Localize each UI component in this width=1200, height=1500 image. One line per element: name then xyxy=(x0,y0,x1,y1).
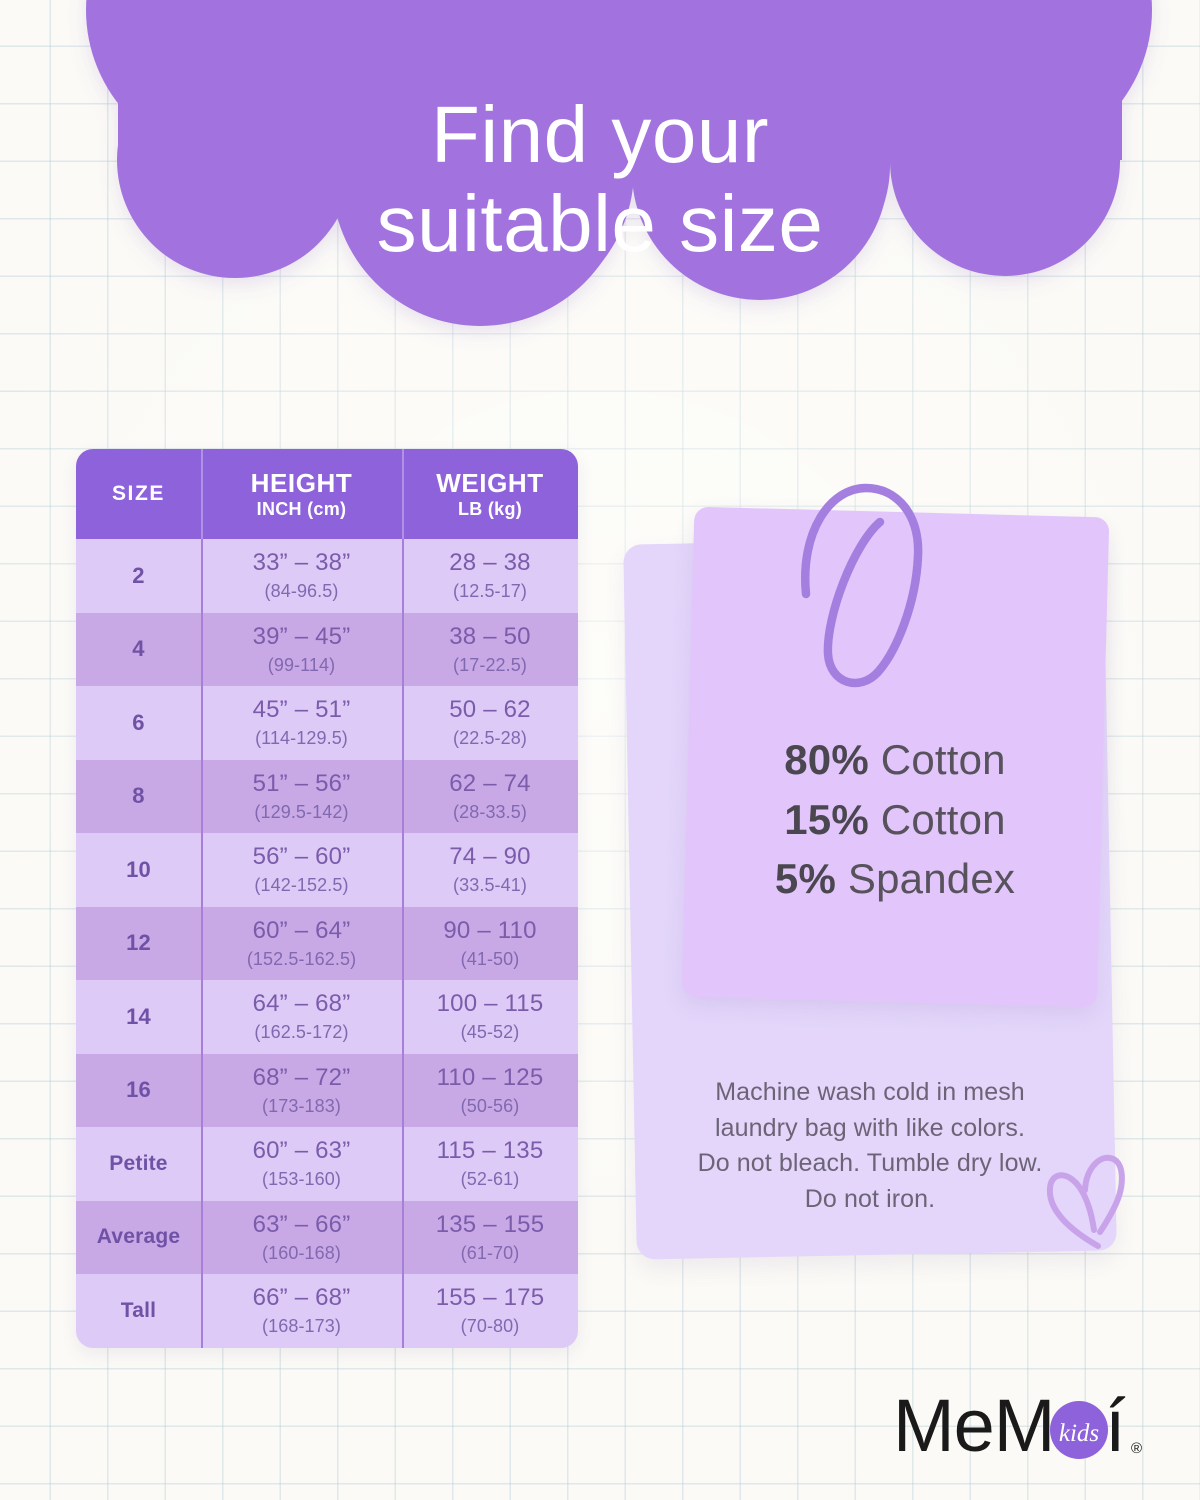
weight-lb: 90 – 110 xyxy=(443,919,536,943)
height-inches: 60” – 64” xyxy=(253,919,351,943)
memoi-kids-logo: MeM kids í ® xyxy=(893,1389,1143,1479)
weight-kg: (41-50) xyxy=(461,950,520,968)
height-inches: 33” – 38” xyxy=(253,551,351,575)
cell-size: 8 xyxy=(76,760,201,834)
weight-kg: (50-56) xyxy=(461,1097,520,1115)
weight-kg: (28-33.5) xyxy=(453,803,527,821)
size-value: 4 xyxy=(132,636,144,662)
fabric-composition-list: 80% Cotton15% Cotton5% Spandex xyxy=(660,730,1130,909)
cell-weight: 38 – 50(17-22.5) xyxy=(402,613,578,687)
column-header-height-unit: INCH (cm) xyxy=(257,500,347,518)
column-divider-2 xyxy=(402,613,404,687)
cell-weight: 62 – 74(28-33.5) xyxy=(402,760,578,834)
cell-weight: 135 – 155(61-70) xyxy=(402,1201,578,1275)
height-cm: (99-114) xyxy=(268,656,336,674)
size-value: 12 xyxy=(126,930,151,956)
heart-icon xyxy=(1040,1150,1135,1255)
cell-height: 56” – 60”(142-152.5) xyxy=(201,833,402,907)
cell-height: 33” – 38”(84-96.5) xyxy=(201,539,402,613)
cell-size: 12 xyxy=(76,907,201,981)
cell-height: 45” – 51”(114-129.5) xyxy=(201,686,402,760)
cell-weight: 115 – 135(52-61) xyxy=(402,1127,578,1201)
column-divider-2 xyxy=(402,1127,404,1201)
cell-height: 60” – 64”(152.5-162.5) xyxy=(201,907,402,981)
cell-size: 4 xyxy=(76,613,201,687)
height-inches: 51” – 56” xyxy=(253,772,351,796)
column-divider-2 xyxy=(402,980,404,1054)
size-value: 2 xyxy=(132,563,144,589)
height-cm: (173-183) xyxy=(262,1097,341,1115)
weight-kg: (17-22.5) xyxy=(453,656,527,674)
height-inches: 63” – 66” xyxy=(253,1213,351,1237)
weight-kg: (45-52) xyxy=(461,1023,520,1041)
column-divider-2 xyxy=(402,1274,404,1348)
cell-height: 60” – 63”(153-160) xyxy=(201,1127,402,1201)
height-cm: (152.5-162.5) xyxy=(247,950,356,968)
column-divider-2 xyxy=(402,539,404,613)
table-row: 233” – 38”(84-96.5)28 – 38(12.5-17) xyxy=(76,539,578,613)
table-row: 1464” – 68”(162.5-172)100 – 115(45-52) xyxy=(76,980,578,1054)
column-header-weight: WEIGHT LB (kg) xyxy=(402,449,578,539)
height-inches: 39” – 45” xyxy=(253,625,351,649)
cell-height: 68” – 72”(173-183) xyxy=(201,1054,402,1128)
size-value: Tall xyxy=(121,1299,156,1323)
weight-lb: 110 – 125 xyxy=(437,1066,544,1090)
table-row: 1668” – 72”(173-183)110 – 125(50-56) xyxy=(76,1054,578,1128)
table-row: Petite60” – 63”(153-160)115 – 135(52-61) xyxy=(76,1127,578,1201)
height-inches: 66” – 68” xyxy=(253,1286,351,1310)
cell-size: 10 xyxy=(76,833,201,907)
column-divider-2 xyxy=(402,449,404,539)
fabric-line: 15% Cotton xyxy=(660,790,1130,850)
weight-lb: 62 – 74 xyxy=(449,772,530,796)
table-row: Average63” – 66”(160-168)135 – 155(61-70… xyxy=(76,1201,578,1275)
logo-tail: í xyxy=(1105,1389,1126,1467)
cell-size: Average xyxy=(76,1201,201,1275)
weight-kg: (61-70) xyxy=(461,1244,520,1262)
column-divider-1 xyxy=(201,613,203,687)
height-cm: (168-173) xyxy=(262,1317,341,1335)
table-row: 645” – 51”(114-129.5)50 – 62(22.5-28) xyxy=(76,686,578,760)
column-divider-2 xyxy=(402,1054,404,1128)
size-value: Petite xyxy=(109,1152,167,1176)
column-divider-1 xyxy=(201,833,203,907)
cell-weight: 155 – 175(70-80) xyxy=(402,1274,578,1348)
weight-kg: (12.5-17) xyxy=(453,582,527,600)
fabric-line: 80% Cotton xyxy=(660,730,1130,790)
fabric-line: 5% Spandex xyxy=(660,849,1130,909)
weight-lb: 100 – 115 xyxy=(437,992,544,1016)
page-title: Find your suitable size xyxy=(0,90,1200,269)
cell-size: 6 xyxy=(76,686,201,760)
height-inches: 56” – 60” xyxy=(253,845,351,869)
column-divider-2 xyxy=(402,686,404,760)
height-inches: 45” – 51” xyxy=(253,698,351,722)
column-divider-1 xyxy=(201,449,203,539)
logo-wordmark: MeM xyxy=(893,1389,1054,1467)
table-row: 1056” – 60”(142-152.5)74 – 90(33.5-41) xyxy=(76,833,578,907)
size-chart-table: SIZE HEIGHT INCH (cm) WEIGHT LB (kg) 233… xyxy=(76,449,578,1348)
size-value: 16 xyxy=(126,1077,151,1103)
cell-weight: 100 – 115(45-52) xyxy=(402,980,578,1054)
cell-height: 64” – 68”(162.5-172) xyxy=(201,980,402,1054)
weight-kg: (70-80) xyxy=(461,1317,520,1335)
cell-weight: 50 – 62(22.5-28) xyxy=(402,686,578,760)
weight-kg: (52-61) xyxy=(461,1170,520,1188)
column-divider-1 xyxy=(201,1274,203,1348)
height-cm: (162.5-172) xyxy=(254,1023,348,1041)
cell-height: 66” – 68”(168-173) xyxy=(201,1274,402,1348)
logo-registered-mark: ® xyxy=(1131,1440,1142,1457)
cell-weight: 90 – 110(41-50) xyxy=(402,907,578,981)
fabric-percent: 15% xyxy=(784,796,869,843)
cell-weight: 74 – 90(33.5-41) xyxy=(402,833,578,907)
column-divider-1 xyxy=(201,539,203,613)
height-cm: (114-129.5) xyxy=(255,729,348,747)
cell-size: Tall xyxy=(76,1274,201,1348)
column-header-size-label: SIZE xyxy=(112,482,165,506)
column-divider-1 xyxy=(201,907,203,981)
height-inches: 64” – 68” xyxy=(253,992,351,1016)
column-divider-1 xyxy=(201,980,203,1054)
height-cm: (142-152.5) xyxy=(254,876,348,894)
weight-lb: 50 – 62 xyxy=(449,698,530,722)
cell-size: 14 xyxy=(76,980,201,1054)
fabric-material: Cotton xyxy=(881,796,1006,843)
column-divider-1 xyxy=(201,1127,203,1201)
table-body: 233” – 38”(84-96.5)28 – 38(12.5-17)439” … xyxy=(76,539,578,1348)
column-divider-2 xyxy=(402,1201,404,1275)
size-value: Average xyxy=(97,1225,181,1249)
cell-height: 51” – 56”(129.5-142) xyxy=(201,760,402,834)
column-header-weight-unit: LB (kg) xyxy=(458,500,522,518)
cell-height: 39” – 45”(99-114) xyxy=(201,613,402,687)
column-divider-1 xyxy=(201,686,203,760)
size-value: 14 xyxy=(126,1004,151,1030)
column-divider-2 xyxy=(402,907,404,981)
table-row: 851” – 56”(129.5-142)62 – 74(28-33.5) xyxy=(76,760,578,834)
fabric-material: Spandex xyxy=(848,855,1015,902)
weight-lb: 74 – 90 xyxy=(449,845,530,869)
height-inches: 60” – 63” xyxy=(253,1139,351,1163)
fabric-percent: 5% xyxy=(775,855,836,902)
logo-kids-badge: kids xyxy=(1059,1420,1099,1447)
table-row: 1260” – 64”(152.5-162.5)90 – 110(41-50) xyxy=(76,907,578,981)
column-divider-2 xyxy=(402,833,404,907)
weight-lb: 28 – 38 xyxy=(449,551,530,575)
table-row: 439” – 45”(99-114)38 – 50(17-22.5) xyxy=(76,613,578,687)
fabric-material: Cotton xyxy=(881,736,1006,783)
column-divider-1 xyxy=(201,1054,203,1128)
height-cm: (129.5-142) xyxy=(254,803,348,821)
size-value: 6 xyxy=(132,710,144,736)
column-header-height: HEIGHT INCH (cm) xyxy=(201,449,402,539)
paperclip-icon xyxy=(792,466,932,701)
column-divider-1 xyxy=(201,760,203,834)
height-cm: (160-168) xyxy=(262,1244,341,1262)
height-inches: 68” – 72” xyxy=(253,1066,351,1090)
cell-weight: 28 – 38(12.5-17) xyxy=(402,539,578,613)
weight-lb: 38 – 50 xyxy=(449,625,530,649)
column-divider-1 xyxy=(201,1201,203,1275)
column-header-height-label: HEIGHT xyxy=(251,470,353,496)
care-instructions-text: Machine wash cold in mesh laundry bag wi… xyxy=(640,1075,1100,1217)
weight-lb: 115 – 135 xyxy=(437,1139,544,1163)
weight-lb: 135 – 155 xyxy=(436,1213,545,1237)
column-header-size: SIZE xyxy=(76,449,201,539)
cell-size: Petite xyxy=(76,1127,201,1201)
table-header-row: SIZE HEIGHT INCH (cm) WEIGHT LB (kg) xyxy=(76,449,578,539)
table-row: Tall66” – 68”(168-173)155 – 175(70-80) xyxy=(76,1274,578,1348)
cell-size: 2 xyxy=(76,539,201,613)
weight-lb: 155 – 175 xyxy=(436,1286,545,1310)
size-value: 10 xyxy=(126,857,151,883)
weight-kg: (33.5-41) xyxy=(453,876,527,894)
cell-weight: 110 – 125(50-56) xyxy=(402,1054,578,1128)
weight-kg: (22.5-28) xyxy=(453,729,527,747)
height-cm: (84-96.5) xyxy=(265,582,339,600)
fabric-percent: 80% xyxy=(784,736,869,783)
column-header-weight-label: WEIGHT xyxy=(436,470,544,496)
height-cm: (153-160) xyxy=(262,1170,341,1188)
size-value: 8 xyxy=(132,783,144,809)
cell-size: 16 xyxy=(76,1054,201,1128)
cell-height: 63” – 66”(160-168) xyxy=(201,1201,402,1275)
column-divider-2 xyxy=(402,760,404,834)
